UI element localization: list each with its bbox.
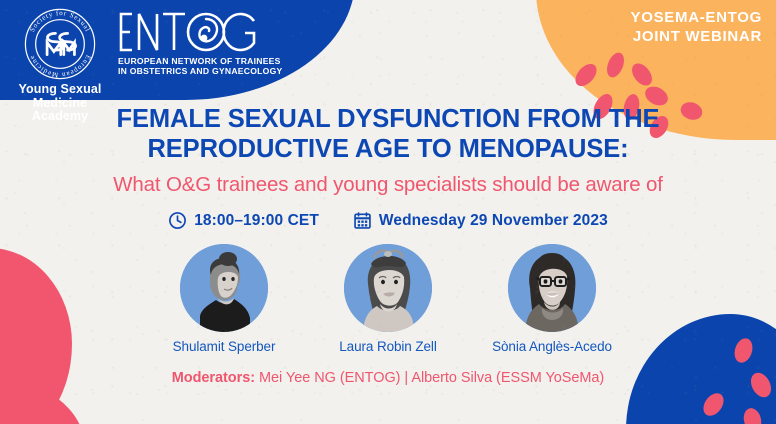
fetus-motif-icon: [199, 19, 217, 41]
event-date: Wednesday 29 November 2023: [353, 211, 608, 230]
speaker-portrait-3-icon: [508, 244, 596, 332]
avatar: [344, 244, 432, 332]
event-date-text: Wednesday 29 November 2023: [379, 212, 608, 230]
clock-icon: [168, 211, 187, 230]
moderators-label: Moderators:: [172, 370, 255, 386]
title-line-1: FEMALE SEXUAL DYSFUNCTION FROM THE: [58, 104, 718, 134]
avatar: [180, 244, 268, 332]
title-line-2: REPRODUCTIVE AGE TO MENOPAUSE:: [58, 134, 718, 164]
speaker-name: Sònia Anglès-Acedo: [491, 339, 613, 354]
entog-subtitle: EUROPEAN NETWORK OF TRAINEES IN OBSTETRI…: [118, 56, 283, 76]
joint-webinar-label: YOSEMA-ENTOG JOINT WEBINAR: [631, 8, 762, 46]
webinar-poster: Society for Sexual European Medicine You…: [0, 0, 776, 424]
speaker-card: Shulamit Sperber: [163, 244, 285, 354]
calendar-icon: [353, 211, 372, 230]
speakers-list: Shulamit Sperber: [0, 244, 776, 354]
page-subtitle: What O&G trainees and young specialists …: [40, 172, 736, 198]
speaker-portrait-1-icon: [180, 244, 268, 332]
speaker-portrait-2-icon: [344, 244, 432, 332]
moderators-names: Mei Yee NG (ENTOG) | Alberto Silva (ESSM…: [255, 370, 604, 386]
avatar: [508, 244, 596, 332]
speaker-card: Sònia Anglès-Acedo: [491, 244, 613, 354]
page-title: FEMALE SEXUAL DYSFUNCTION FROM THE REPRO…: [58, 104, 718, 164]
svg-text:Society for Sexual: Society for Sexual: [28, 9, 92, 33]
event-meta-row: 18:00–19:00 CET Wednesday: [0, 211, 776, 230]
poster-content: FEMALE SEXUAL DYSFUNCTION FROM THE REPRO…: [0, 104, 776, 386]
svg-text:European Medicine: European Medicine: [28, 54, 93, 79]
webinar-label-line2: JOINT WEBINAR: [631, 27, 762, 46]
speaker-card: Laura Robin Zell: [327, 244, 449, 354]
essm-circular-logo-icon: Society for Sexual European Medicine: [22, 6, 98, 82]
event-time: 18:00–19:00 CET: [168, 211, 319, 230]
speaker-name: Laura Robin Zell: [327, 339, 449, 354]
entog-logo: EUROPEAN NETWORK OF TRAINEES IN OBSTETRI…: [118, 10, 283, 76]
event-time-text: 18:00–19:00 CET: [194, 212, 319, 230]
webinar-label-line1: YOSEMA-ENTOG: [631, 8, 762, 27]
moderators-line: Moderators: Mei Yee NG (ENTOG) | Alberto…: [0, 370, 776, 386]
speaker-name: Shulamit Sperber: [163, 339, 285, 354]
entog-wordmark-icon: [118, 10, 258, 54]
